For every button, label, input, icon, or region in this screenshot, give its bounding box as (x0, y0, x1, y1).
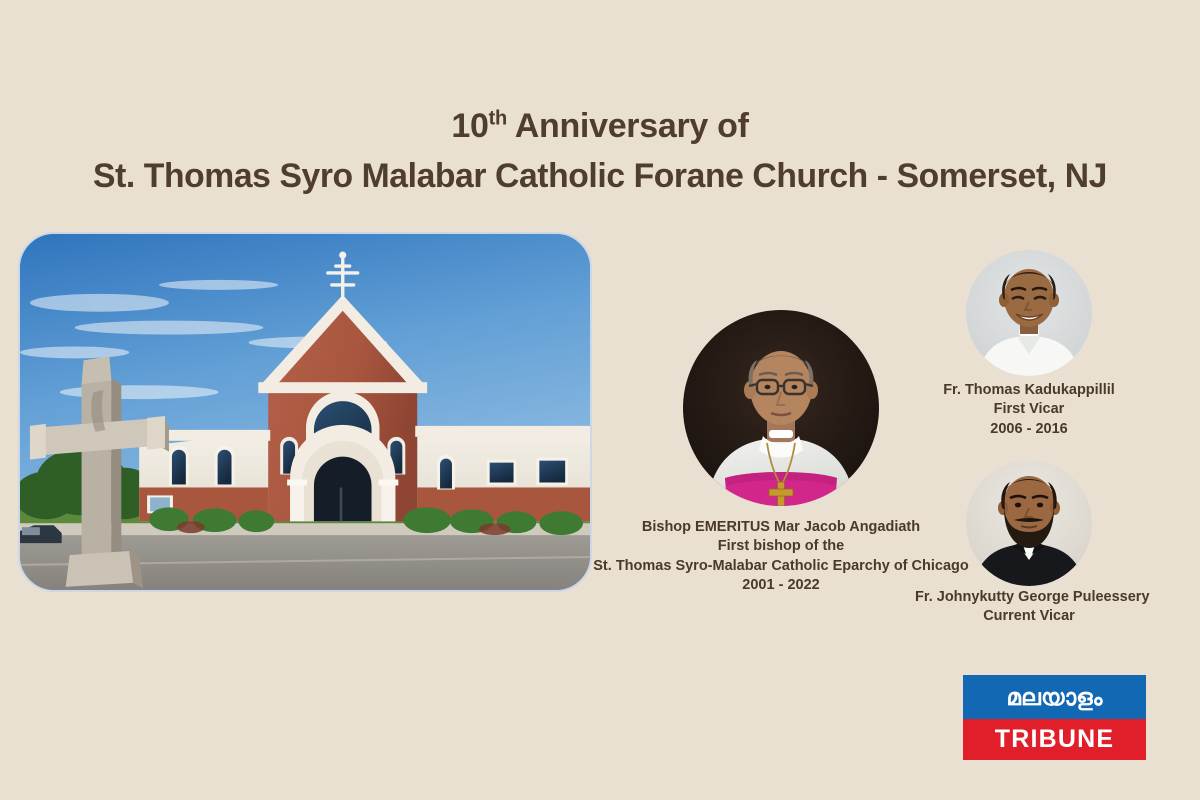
bishop-portrait-illustration (683, 310, 879, 506)
first-vicar-portrait-illustration (966, 250, 1092, 376)
anniversary-poster: 10th Anniversary of St. Thomas Syro Mala… (0, 0, 1200, 800)
first-vicar-caption: Fr. Thomas Kadukappillil First Vicar 200… (925, 381, 1133, 439)
page-title: 10th Anniversary of St. Thomas Syro Mala… (0, 108, 1200, 194)
first-vicar-caption-line-1: Fr. Thomas Kadukappillil (925, 381, 1133, 400)
anniversary-number: 10 (451, 107, 488, 145)
ordinal-suffix: th (489, 108, 507, 130)
church-photo-illustration (20, 234, 590, 590)
bishop-caption-line-1: Bishop EMERITUS Mar Jacob Angadiath (565, 518, 997, 537)
church-exterior-photo (18, 232, 592, 592)
current-vicar-portrait-image (966, 460, 1092, 586)
title-line-church-name: St. Thomas Syro Malabar Catholic Forane … (6, 158, 1194, 195)
logo-tribune-text: TRIBUNE (963, 719, 1146, 760)
current-vicar-caption-line-1: Fr. Johnykutty George Puleessery (915, 588, 1143, 607)
current-vicar-caption-line-2: Current Vicar (915, 607, 1143, 626)
bishop-caption-line-3: St. Thomas Syro-Malabar Catholic Eparchy… (565, 557, 997, 576)
malayalam-tribune-logo[interactable]: മലയാളം TRIBUNE (963, 675, 1146, 760)
first-vicar-caption-line-2: First Vicar (925, 400, 1133, 419)
anniversary-of-text: Anniversary of (507, 107, 749, 145)
current-vicar-caption: Fr. Johnykutty George Puleessery Current… (915, 588, 1143, 627)
bishop-portrait-image (683, 310, 879, 506)
title-line-anniversary: 10th Anniversary of (0, 108, 1200, 145)
current-vicar-portrait-illustration (966, 460, 1092, 586)
first-vicar-caption-line-3: 2006 - 2016 (925, 420, 1133, 439)
bishop-caption: Bishop EMERITUS Mar Jacob Angadiath Firs… (565, 518, 997, 595)
first-vicar-portrait-image (966, 250, 1092, 376)
bishop-caption-line-2: First bishop of the (565, 537, 997, 556)
logo-malayalam-text: മലയാളം (963, 675, 1146, 719)
